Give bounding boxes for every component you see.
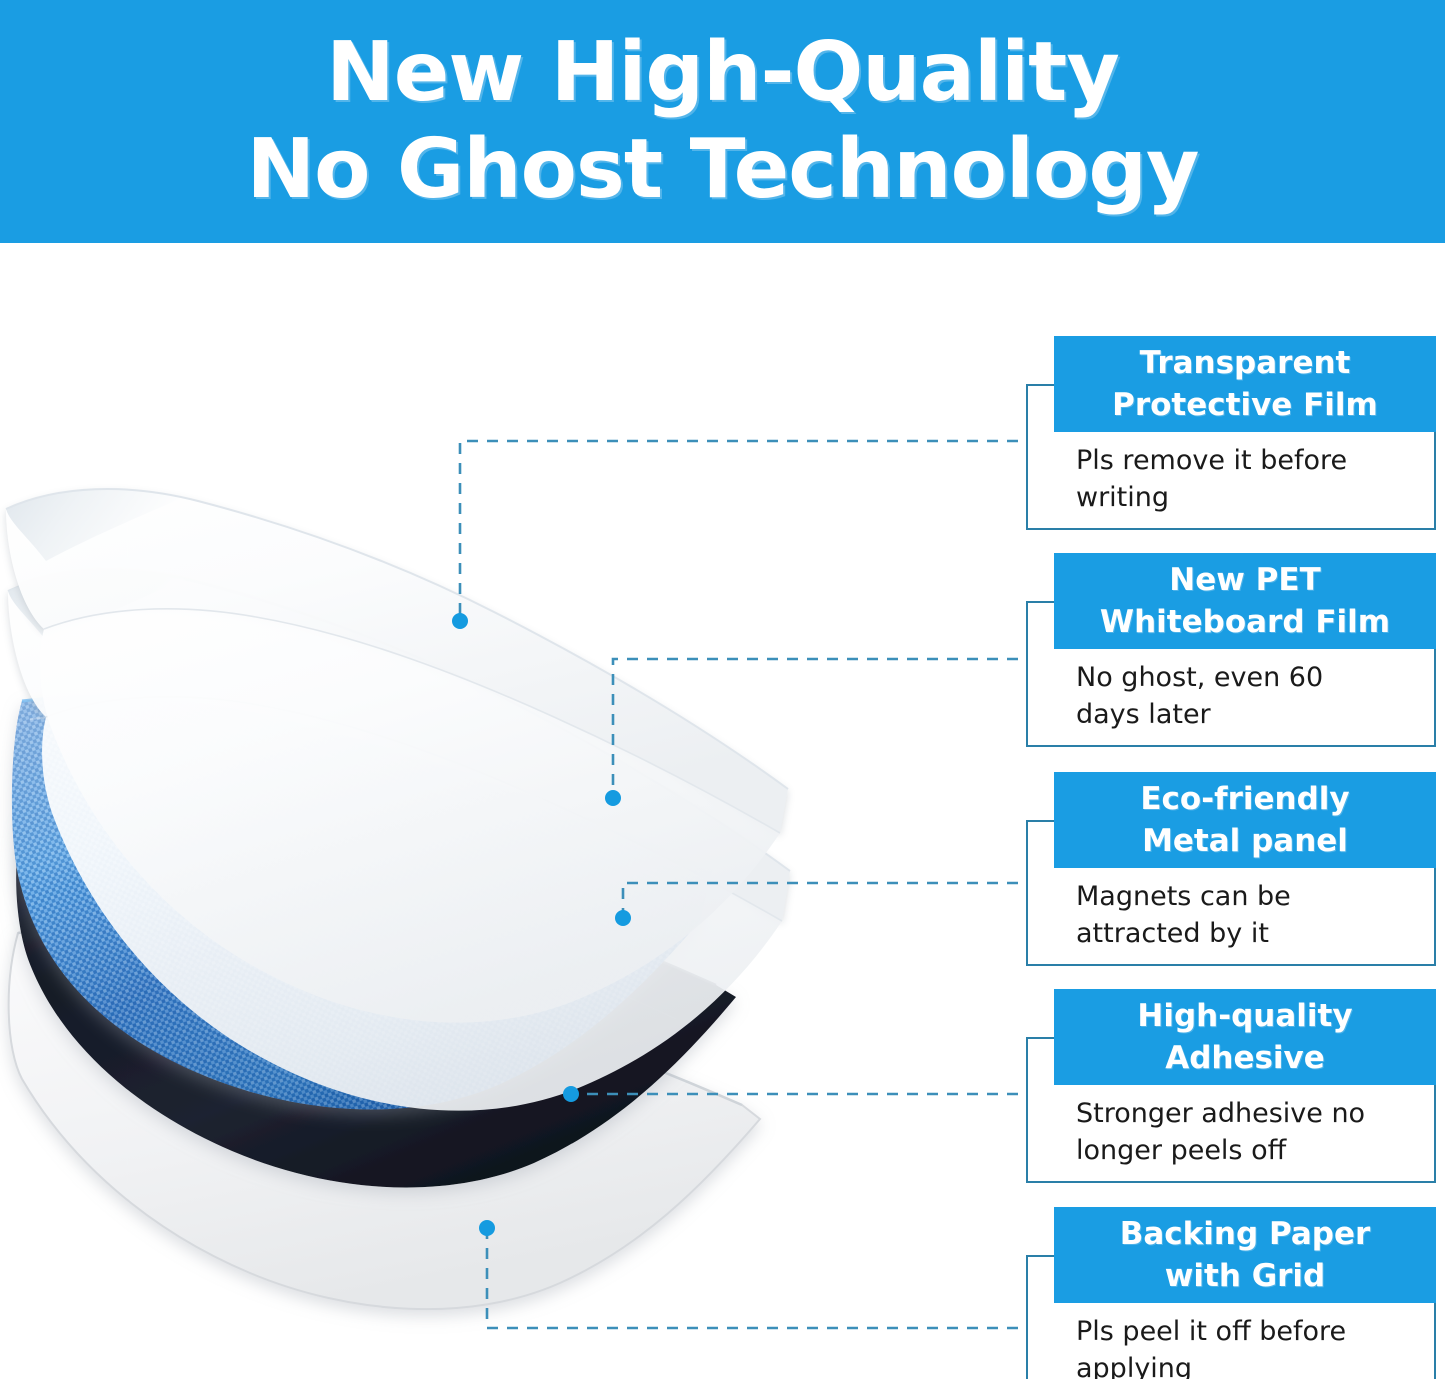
callout-title-banner: New PET Whiteboard Film [1054,553,1436,649]
infographic-page: New High-Quality No Ghost Technology [0,0,1445,1379]
callout-title-banner: High-quality Adhesive [1054,989,1436,1085]
callout-title-banner: Backing Paper with Grid [1054,1207,1436,1303]
exploded-layer-illustration [0,243,1010,1379]
page-title: New High-Quality No Ghost Technology [0,24,1445,218]
header-banner: New High-Quality No Ghost Technology [0,0,1445,243]
callout-title-banner: Transparent Protective Film [1054,336,1436,432]
callout-title-banner: Eco-friendly Metal panel [1054,772,1436,868]
